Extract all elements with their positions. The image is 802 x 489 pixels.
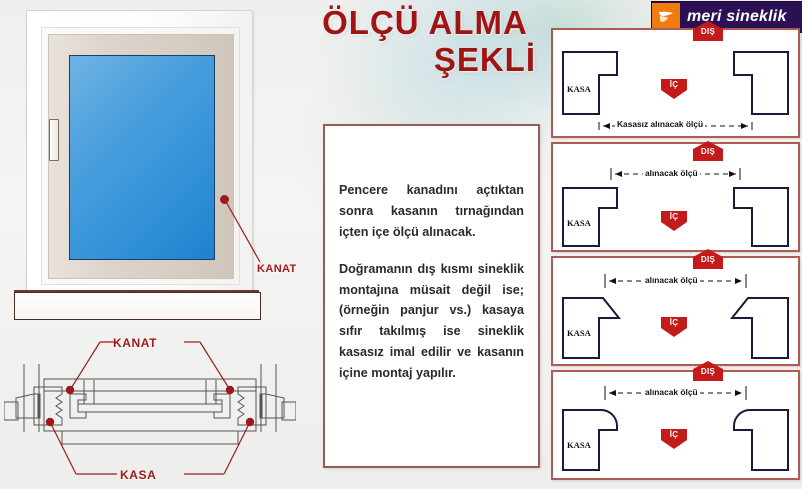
panel-4-badge-ic: İÇ xyxy=(660,428,688,450)
page-title-line2: ŞEKLİ xyxy=(300,43,550,78)
instructions-paragraph-1: Pencere kanadını açtıktan sonra kasanın … xyxy=(339,180,524,243)
window-sash xyxy=(48,34,234,279)
leaf-icon xyxy=(652,3,680,31)
diagram-panel-1: KASA Kasasız alınacak ölçü DIŞ İÇ xyxy=(551,28,800,138)
window-sill xyxy=(14,292,261,320)
panel-2-dimension-label: alınacak ölçü xyxy=(643,168,700,178)
panel-2-label-kasa: KASA xyxy=(567,218,591,228)
window-illustration xyxy=(8,4,293,324)
panel-4-badge-dis: DIŞ xyxy=(692,360,724,382)
panel-3-label-kasa: KASA xyxy=(567,328,591,338)
poster-root: KANAT xyxy=(0,0,802,489)
panel-2-badge-ic: İÇ xyxy=(660,210,688,232)
panel-3-dimension-label: alınacak ölçü xyxy=(643,275,700,285)
label-kanat-window: KANAT xyxy=(257,263,297,275)
panel-2-badge-dis: DIŞ xyxy=(692,140,724,162)
panel-1-badge-ic: İÇ xyxy=(660,78,688,100)
page-title: ÖLÇÜ ALMA ŞEKLİ xyxy=(300,6,550,77)
window-handle-icon xyxy=(49,119,59,161)
window-glass xyxy=(69,55,215,260)
panel-4-label-kasa: KASA xyxy=(567,440,591,450)
diagram-panel-3: KASA alınacak ölçü DIŞ İÇ xyxy=(551,256,800,366)
diagram-panel-4: KASA alınacak ölçü DIŞ İÇ xyxy=(551,370,800,480)
panel-1-dimension-label: Kasasız alınacak ölçü xyxy=(615,119,705,129)
label-kanat-section: KANAT xyxy=(113,336,157,350)
cross-section-diagram xyxy=(4,332,296,484)
kanat-callout-dot xyxy=(220,195,229,204)
window-outer-frame xyxy=(26,10,253,294)
instructions-panel: Pencere kanadını açtıktan sonra kasanın … xyxy=(323,124,540,468)
panel-1-label-kasa: KASA xyxy=(567,84,591,94)
window-inner-frame xyxy=(41,27,240,285)
panel-3-badge-dis: DIŞ xyxy=(692,248,724,270)
panel-4-dimension-label: alınacak ölçü xyxy=(643,387,700,397)
page-title-line1: ÖLÇÜ ALMA xyxy=(322,4,528,41)
panel-3-badge-ic: İÇ xyxy=(660,316,688,338)
instructions-paragraph-2: Doğramanın dış kısmı sineklik montajına … xyxy=(339,259,524,384)
label-kasa-section: KASA xyxy=(120,468,156,482)
diagram-panel-2: KASA alınacak ölçü DIŞ İÇ xyxy=(551,142,800,252)
panel-1-badge-dis: DIŞ xyxy=(692,20,724,42)
